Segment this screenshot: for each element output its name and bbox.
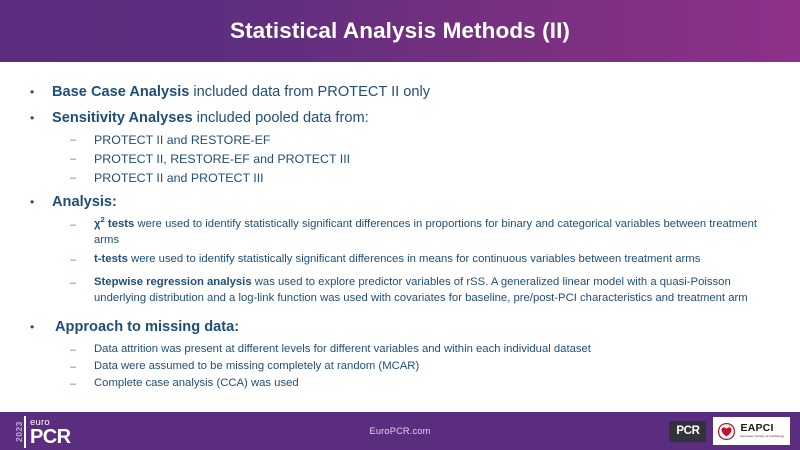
slide-content: • Base Case Analysis included data from … (0, 62, 800, 412)
bullet-sensitivity-label: Sensitivity Analyses included pooled dat… (52, 109, 800, 128)
sensitivity-rest: included pooled data from: (193, 110, 369, 126)
dash-icon: – (70, 252, 94, 268)
list-item-chi-square: – χ2 tests were used to identify statist… (0, 217, 800, 248)
bullet-sensitivity: • Sensitivity Analyses included pooled d… (0, 109, 800, 128)
list-item-label: Stepwise regression analysis was used to… (94, 275, 800, 306)
bullet-base-case: • Base Case Analysis included data from … (0, 83, 800, 102)
heart-icon (717, 422, 736, 441)
list-item: – Data were assumed to be missing comple… (0, 359, 800, 375)
analysis-heading: Analysis: (52, 194, 117, 210)
list-item-label: Data attrition was present at different … (94, 342, 800, 358)
list-item: – PROTECT II and PROTECT III (0, 170, 800, 187)
dash-icon: – (70, 217, 94, 233)
bullet-missing-data: • Approach to missing data: (0, 318, 800, 337)
list-item: – Data attrition was present at differen… (0, 342, 800, 358)
missing-data-heading: Approach to missing data: (55, 319, 239, 335)
dash-icon: – (70, 376, 94, 392)
dash-icon: – (70, 132, 94, 148)
list-item: – PROTECT II and RESTORE-EF (0, 132, 800, 149)
footer-logos: PCR EAPCI European Society of Cardiology (669, 417, 790, 445)
list-item-label: Data were assumed to be missing complete… (94, 359, 800, 375)
stepwise-lead: Stepwise regression analysis (94, 276, 252, 288)
ttest-lead: t-tests (94, 253, 128, 265)
chi-lead: tests (105, 218, 135, 230)
list-item-t-tests: – t-tests were used to identify statisti… (0, 252, 800, 268)
ttest-rest: were used to identify statistically sign… (128, 253, 700, 265)
slide-footer: EuroPCR.com 2023 euro PCR PCR EAPCI Euro… (0, 412, 800, 450)
pcr-logo: PCR (669, 421, 706, 442)
list-item-label: PROTECT II, RESTORE-EF and PROTECT III (94, 151, 800, 168)
bullet-missing-data-label: Approach to missing data: (55, 318, 800, 337)
europcr-wordmark: euro PCR (24, 416, 70, 448)
bullet-dot-icon: • (30, 83, 52, 102)
bullet-base-case-label: Base Case Analysis included data from PR… (52, 83, 800, 102)
europcr-year: 2023 (12, 416, 24, 448)
europcr-pcr-text: PCR (30, 428, 70, 447)
base-case-rest: included data from PROTECT II only (189, 84, 430, 100)
list-item-stepwise-regression: – Stepwise regression analysis was used … (0, 275, 800, 306)
list-item-label: Complete case analysis (CCA) was used (94, 376, 800, 392)
bullet-dot-icon: • (30, 193, 52, 212)
bullet-dot-icon: • (30, 109, 52, 128)
dash-icon: – (70, 151, 94, 167)
slide-header: Statistical Analysis Methods (II) (0, 0, 800, 62)
dash-icon: – (70, 170, 94, 186)
bullet-analysis-label: Analysis: (52, 193, 800, 212)
eapci-subtitle: European Society of Cardiology (740, 434, 784, 439)
sensitivity-lead: Sensitivity Analyses (52, 110, 193, 126)
list-item-label: PROTECT II and RESTORE-EF (94, 132, 800, 149)
list-item-label: t-tests were used to identify statistica… (94, 252, 800, 268)
list-item-label: χ2 tests were used to identify statistic… (94, 217, 800, 248)
dash-icon: – (70, 275, 94, 291)
eapci-text-block: EAPCI European Society of Cardiology (740, 423, 784, 439)
bullet-dot-icon: • (30, 318, 55, 337)
eapci-logo: EAPCI European Society of Cardiology (713, 417, 790, 445)
chi-rest: were used to identify statistically sign… (94, 218, 757, 246)
europcr-logo: 2023 euro PCR (12, 416, 70, 448)
page-title: Statistical Analysis Methods (II) (230, 19, 570, 44)
dash-icon: – (70, 342, 94, 358)
base-case-lead: Base Case Analysis (52, 84, 189, 100)
list-item: – Complete case analysis (CCA) was used (0, 376, 800, 392)
list-item-label: PROTECT II and PROTECT III (94, 170, 800, 187)
dash-icon: – (70, 359, 94, 375)
bullet-analysis: • Analysis: (0, 193, 800, 212)
list-item: – PROTECT II, RESTORE-EF and PROTECT III (0, 151, 800, 168)
eapci-name: EAPCI (740, 423, 784, 434)
